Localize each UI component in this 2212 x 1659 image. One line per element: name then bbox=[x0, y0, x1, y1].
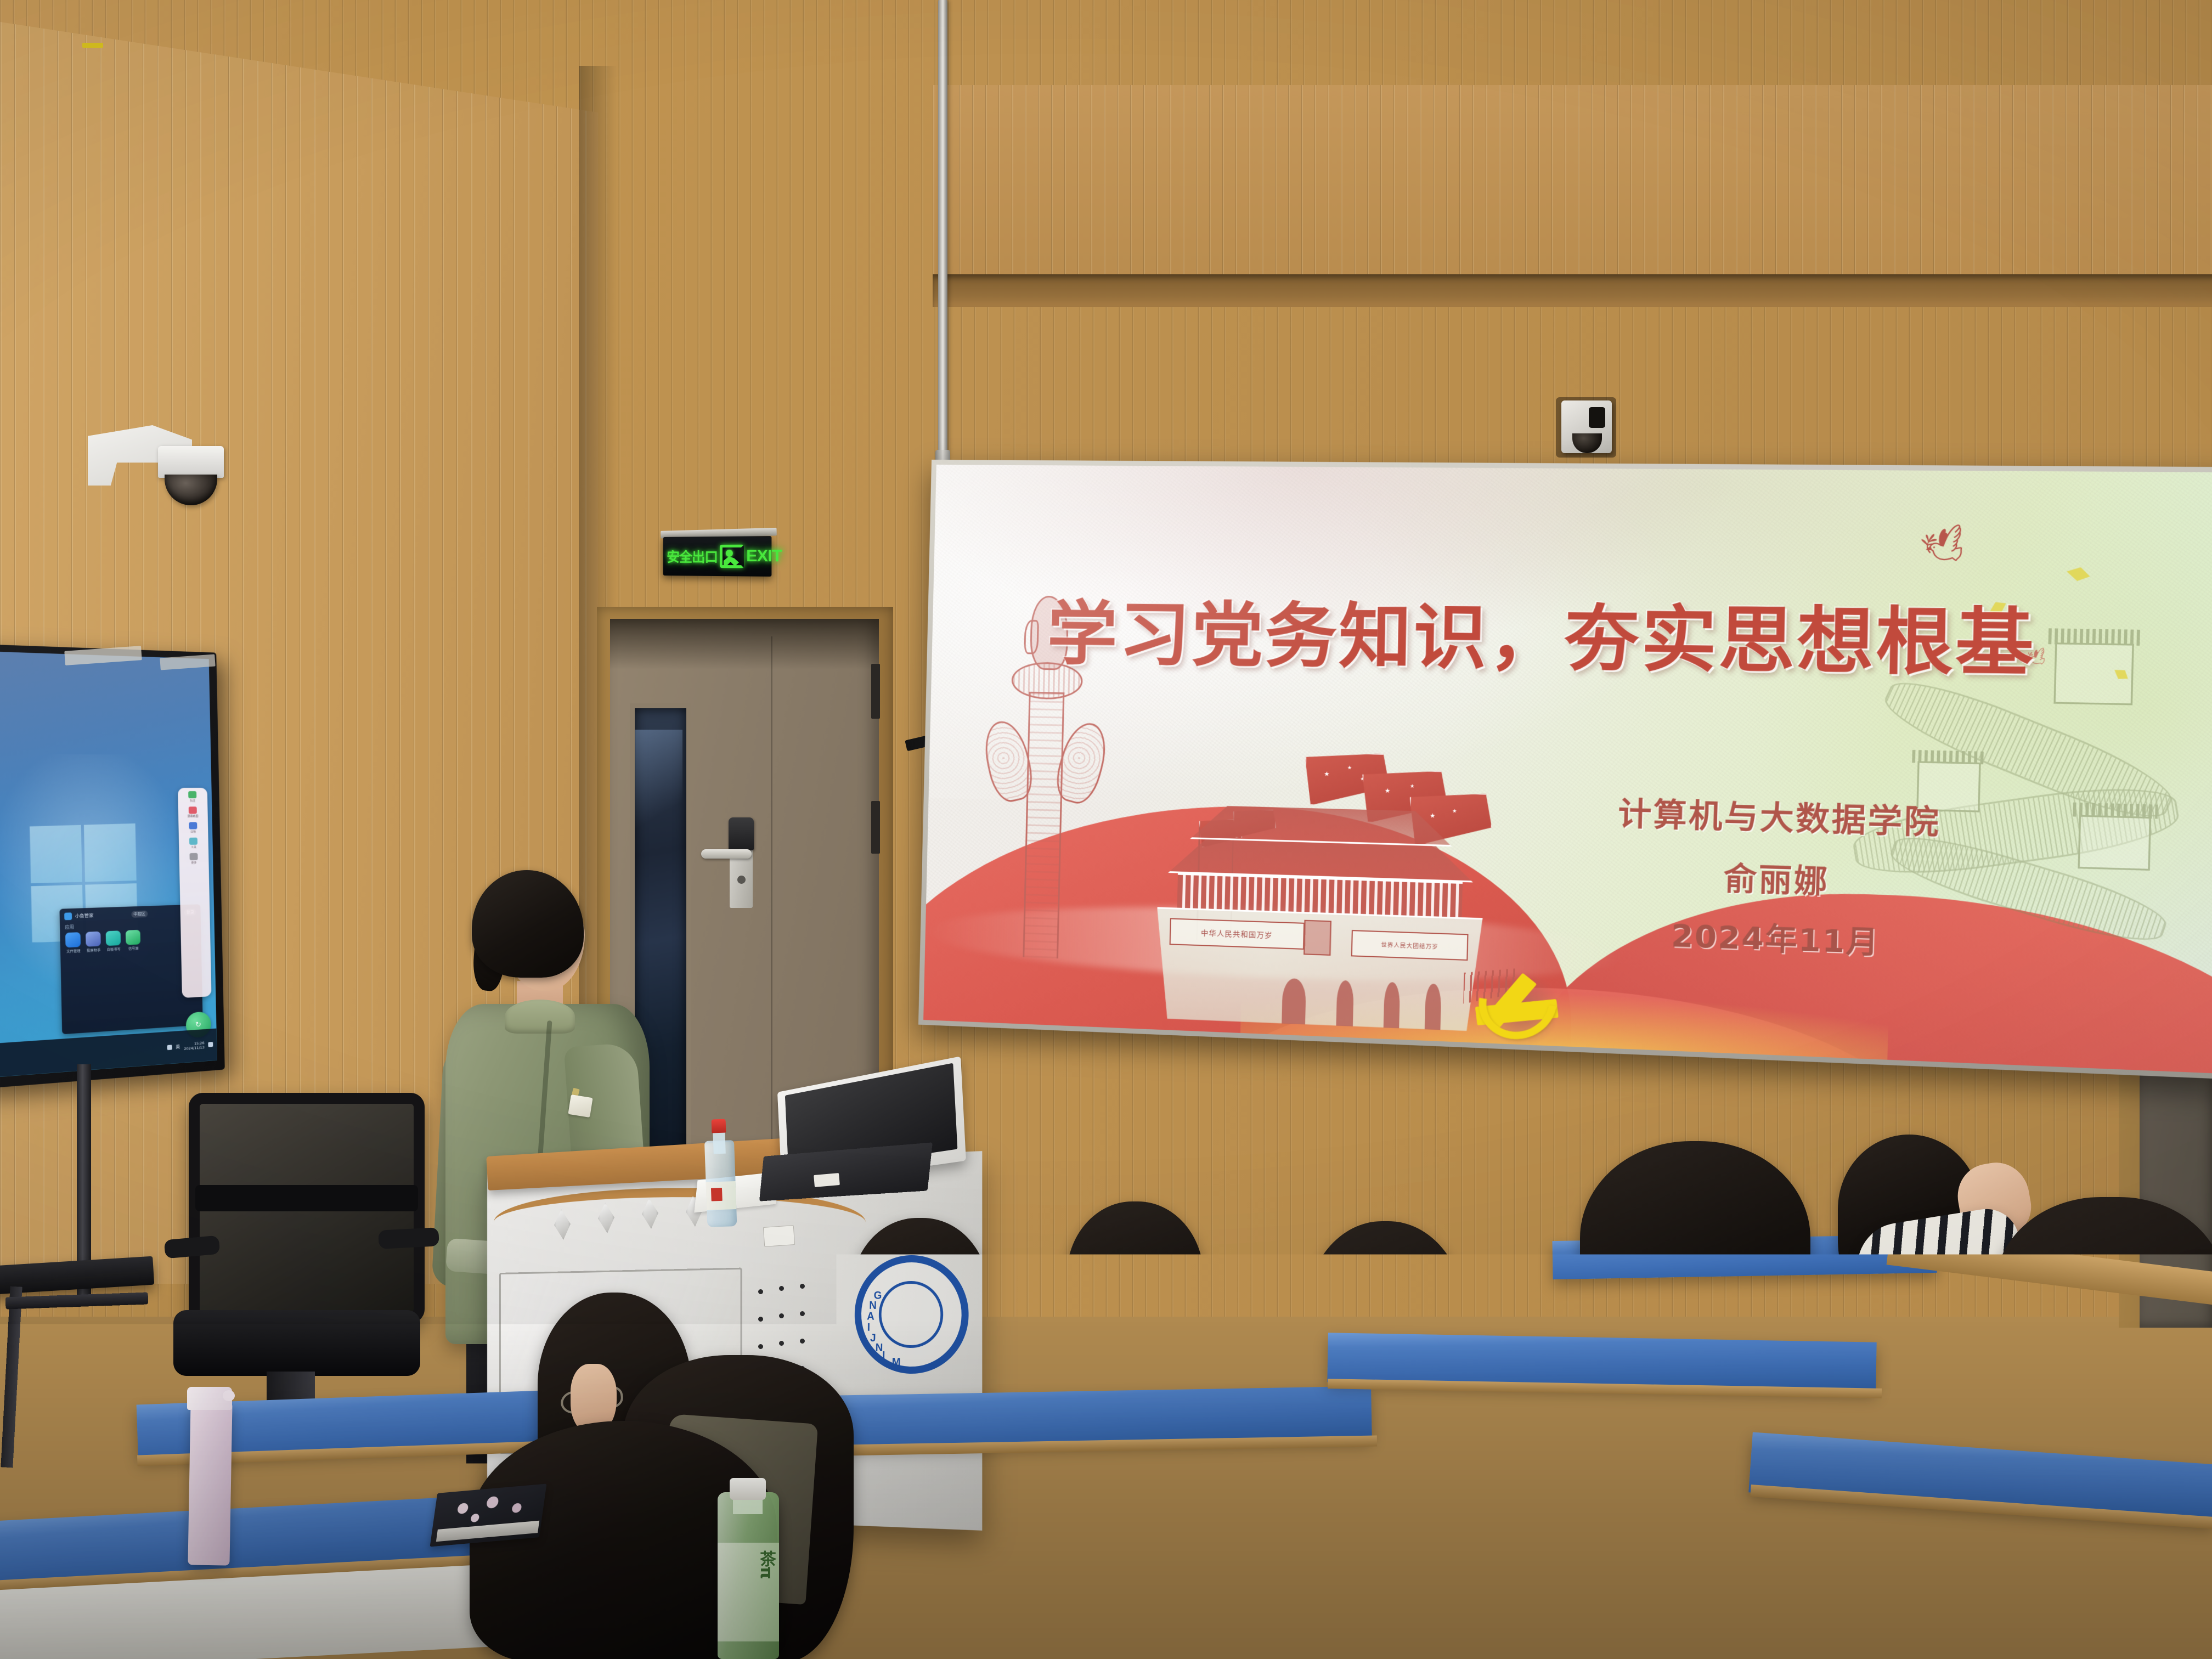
tiananmen-banner-left: 中华人民共和国万岁 bbox=[1170, 918, 1305, 949]
popup-app-grid: 文件管理 投屏助手 白板书写 信号源 bbox=[65, 928, 197, 954]
running-person-exit-icon bbox=[720, 545, 744, 568]
sidebar-item-label: 批注 bbox=[189, 799, 197, 803]
taskbar-date: 2024/11/13 bbox=[184, 1045, 204, 1051]
chair-lumbar-support bbox=[195, 1185, 418, 1211]
panel-display[interactable]: 小鱼管家 中控区 登录 应用 文件管理 投屏助手 bbox=[0, 651, 217, 1079]
door-handle[interactable] bbox=[701, 849, 752, 859]
tools-icon bbox=[189, 837, 198, 844]
popup-chip-left[interactable]: 中控区 bbox=[131, 910, 148, 917]
door-hinge bbox=[871, 801, 880, 854]
taskbar-tray-icon[interactable] bbox=[167, 1045, 172, 1051]
student-head bbox=[1476, 1404, 1602, 1659]
exit-sign-english-label: EXIT bbox=[746, 546, 782, 566]
camera-brand-label bbox=[82, 43, 103, 48]
podium-keyboard-tag bbox=[814, 1173, 840, 1187]
slide-presenter-name: 俞丽娜 bbox=[1616, 849, 1940, 905]
door-keyhole-icon bbox=[737, 876, 746, 884]
emblem-sickle-arc bbox=[1464, 950, 1573, 1054]
windows-taskbar[interactable]: 英 15:26 2024/11/13 bbox=[0, 1028, 217, 1079]
wall-upper-band bbox=[933, 85, 2212, 283]
presenter-name-badge bbox=[568, 1094, 592, 1118]
chair-armrest[interactable] bbox=[378, 1227, 439, 1249]
hoodie-hood bbox=[1585, 1393, 1871, 1509]
popup-app-label: 投屏助手 bbox=[86, 947, 102, 953]
projected-slide: ★ ★ ★ ★ ★ ★ ★ 中华人民共和国万岁 世界人民大团结万岁 bbox=[923, 465, 2212, 1074]
taskbar-notification-icon[interactable] bbox=[208, 1042, 213, 1047]
sensor-lens-icon bbox=[1589, 407, 1605, 428]
student-head bbox=[2156, 1259, 2212, 1544]
ime-indicator[interactable]: 英 bbox=[176, 1044, 180, 1051]
popup-app-label: 白板书写 bbox=[106, 946, 122, 952]
slide-organization: 计算机与大数据学院 bbox=[1617, 788, 1941, 843]
projection-screen-frame: ★ ★ ★ ★ ★ ★ ★ 中华人民共和国万岁 世界人民大团结万岁 bbox=[918, 460, 2212, 1079]
cast-icon bbox=[86, 932, 101, 947]
popup-title: 小鱼管家 bbox=[75, 912, 94, 919]
camera-dome-icon bbox=[165, 475, 217, 505]
chair-seat[interactable] bbox=[173, 1310, 420, 1376]
sidebar-item-4[interactable]: 更多 bbox=[190, 853, 198, 864]
sidebar-item-label: 屏幕截图 bbox=[188, 814, 199, 818]
exit-sign-chinese-label: 安全出口 bbox=[667, 546, 718, 566]
tiananmen-banner-right: 世界人民大团结万岁 bbox=[1351, 930, 1469, 961]
taskbar-clock[interactable]: 15:26 2024/11/13 bbox=[184, 1041, 205, 1051]
popup-app-1[interactable]: 投屏助手 bbox=[85, 932, 101, 953]
white-bottle bbox=[1455, 1314, 1518, 1402]
exit-sign: 安全出口 EXIT bbox=[663, 536, 772, 577]
party-emblem-icon bbox=[1471, 956, 1568, 1058]
more-icon bbox=[190, 853, 198, 860]
door-hinge bbox=[871, 664, 880, 719]
browser-icon bbox=[65, 932, 81, 947]
app-logo-icon bbox=[65, 913, 72, 921]
sidebar-item-label: 更多 bbox=[190, 860, 198, 864]
popup-header: 小鱼管家 中控区 登录 bbox=[65, 909, 196, 921]
thermos-lid-button[interactable] bbox=[223, 1390, 235, 1401]
tiananmen-gate-illustration: ★ ★ ★ ★ ★ ★ ★ 中华人民共和国万岁 世界人民大团结万岁 bbox=[1148, 753, 1493, 1031]
source-icon bbox=[126, 930, 140, 945]
sidebar-item-3[interactable]: 工具 bbox=[189, 837, 198, 849]
door-card-reader[interactable] bbox=[729, 817, 754, 850]
door-window-reflection bbox=[635, 730, 682, 845]
popup-app-0[interactable]: 文件管理 bbox=[65, 932, 81, 954]
sidebar-item-label: 白板 bbox=[189, 830, 198, 833]
huabiao-shaft bbox=[1023, 691, 1065, 958]
slide-title: 学习党务知识，夯实思想根基 bbox=[1046, 578, 2036, 691]
security-camera bbox=[88, 420, 225, 521]
bottle-neck bbox=[713, 1130, 725, 1154]
panel-tool-sidebar[interactable]: 批注 屏幕截图 白板 工具 更多 bbox=[178, 788, 212, 998]
annotate-icon bbox=[188, 791, 196, 798]
tiananmen-portrait-icon bbox=[1304, 920, 1331, 956]
bottle-label-accent bbox=[711, 1188, 723, 1201]
board-icon bbox=[189, 822, 197, 829]
sidebar-item-1[interactable]: 屏幕截图 bbox=[187, 806, 198, 818]
presenter-collar bbox=[505, 1000, 575, 1034]
watchtower-icon bbox=[2078, 815, 2152, 871]
podium-info-label bbox=[763, 1225, 795, 1247]
slide-subtitle-block: 计算机与大数据学院 俞丽娜 2024年11月 bbox=[1615, 788, 1941, 965]
popup-app-2[interactable]: 白板书写 bbox=[105, 930, 122, 952]
sidebar-item-0[interactable]: 批注 bbox=[188, 791, 196, 803]
tea-bottle-brand-text: 茶π bbox=[722, 1550, 775, 1579]
sidebar-item-2[interactable]: 白板 bbox=[189, 822, 197, 833]
tiananmen-arch bbox=[1384, 982, 1400, 1028]
popup-app-3[interactable]: 信号源 bbox=[125, 930, 142, 951]
sidebar-item-label: 工具 bbox=[189, 845, 198, 849]
popup-app-label: 信号源 bbox=[126, 946, 142, 951]
pink-thermos-bottle bbox=[188, 1400, 232, 1565]
smartphone[interactable] bbox=[2102, 1583, 2187, 1630]
popup-app-label: 文件管理 bbox=[65, 948, 82, 954]
screenshot-icon bbox=[189, 806, 197, 814]
whiteboard-icon bbox=[106, 931, 121, 946]
wall-reveal-groove bbox=[933, 274, 2212, 307]
presenter-hair bbox=[472, 870, 584, 978]
tiananmen-arch bbox=[1425, 984, 1441, 1030]
door-top-shadow bbox=[610, 619, 879, 669]
interactive-flat-panel[interactable]: 小鱼管家 中控区 登录 应用 文件管理 投屏助手 bbox=[0, 644, 225, 1090]
lecture-hall-photo: 安全出口 EXIT bbox=[0, 0, 2212, 1659]
water-bottle-on-podium bbox=[704, 1119, 737, 1227]
bottle-cap bbox=[712, 1119, 726, 1133]
tea-bottle-cap bbox=[730, 1478, 766, 1500]
camera-body bbox=[158, 446, 224, 478]
